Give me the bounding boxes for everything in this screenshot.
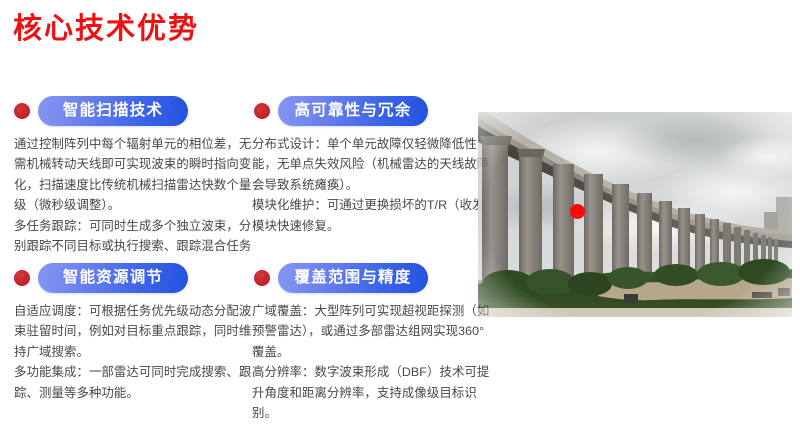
viaduct-photo-graphic bbox=[478, 112, 792, 317]
feature-body-text: 分布式设计：单个单元故障仅轻微降低性能，无单点失效风险（机械雷达的天线故障会导致… bbox=[248, 134, 494, 236]
feature-header: 智能资源调节 bbox=[8, 262, 253, 294]
feature-header: 覆盖范围与精度 bbox=[248, 262, 493, 294]
feature-heading-pill-smart-resource[interactable]: 智能资源调节 bbox=[38, 263, 188, 293]
feature-heading-pill-smart-scanning[interactable]: 智能扫描技术 bbox=[38, 96, 188, 126]
red-dot-icon bbox=[254, 270, 270, 286]
feature-heading-label: 覆盖范围与精度 bbox=[295, 270, 412, 286]
feature-card-high-reliability: 高可靠性与冗余 分布式设计：单个单元故障仅轻微降低性能，无单点失效风险（机械雷达… bbox=[248, 95, 493, 236]
viaduct-photo bbox=[478, 112, 792, 317]
red-dot-icon bbox=[254, 103, 270, 119]
feature-body-text: 广域覆盖：大型阵列可实现超视距探测（如预警雷达），或通过多部雷达组网实现360°… bbox=[248, 301, 494, 424]
feature-heading-label: 高可靠性与冗余 bbox=[295, 103, 412, 119]
feature-header: 高可靠性与冗余 bbox=[248, 95, 493, 127]
feature-header: 智能扫描技术 bbox=[8, 95, 253, 127]
feature-heading-pill-coverage-accuracy[interactable]: 覆盖范围与精度 bbox=[278, 263, 428, 293]
feature-body-text: 自适应调度：可根据任务优先级动态分配波束驻留时间，例如对目标重点跟踪，同时维持广… bbox=[8, 301, 253, 403]
page-title: 核心技术优势 bbox=[13, 14, 199, 46]
feature-card-smart-resource: 智能资源调节 自适应调度：可根据任务优先级动态分配波束驻留时间，例如对目标重点跟… bbox=[8, 262, 253, 403]
red-dot-marker-icon bbox=[570, 204, 585, 219]
red-dot-icon bbox=[14, 103, 30, 119]
red-dot-icon bbox=[14, 270, 30, 286]
feature-body-text: 通过控制阵列中每个辐射单元的相位差，无需机械转动天线即可实现波束的瞬时指向变化，… bbox=[8, 134, 253, 257]
feature-card-smart-scanning: 智能扫描技术 通过控制阵列中每个辐射单元的相位差，无需机械转动天线即可实现波束的… bbox=[8, 95, 253, 257]
feature-heading-label: 智能扫描技术 bbox=[63, 103, 163, 119]
feature-heading-label: 智能资源调节 bbox=[63, 270, 163, 286]
feature-card-coverage-accuracy: 覆盖范围与精度 广域覆盖：大型阵列可实现超视距探测（如预警雷达），或通过多部雷达… bbox=[248, 262, 493, 424]
feature-heading-pill-high-reliability[interactable]: 高可靠性与冗余 bbox=[278, 96, 428, 126]
